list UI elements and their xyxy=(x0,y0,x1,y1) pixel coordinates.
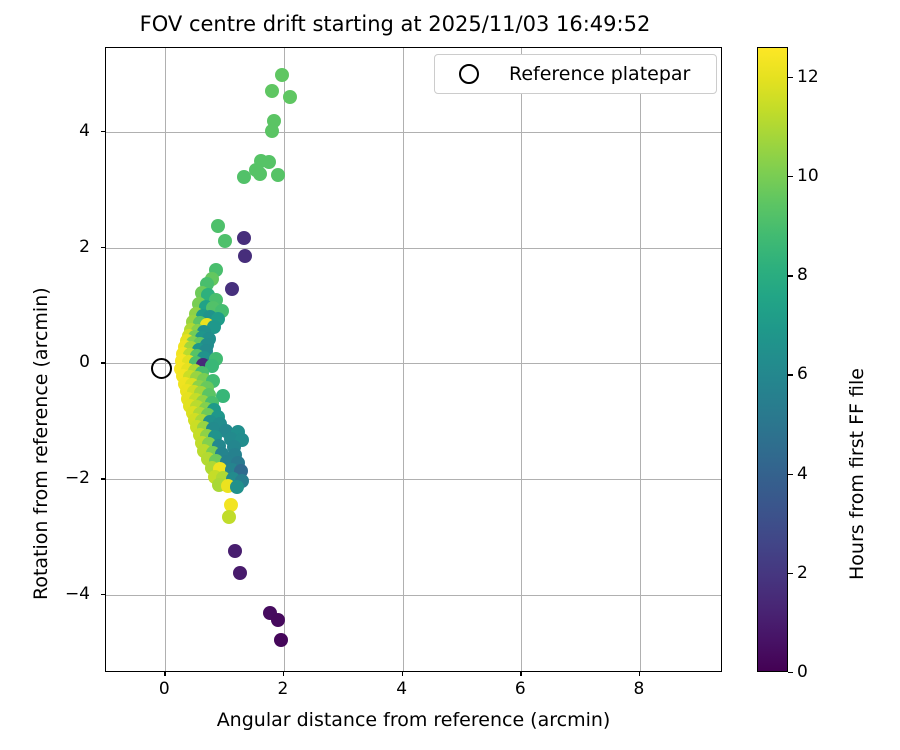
x-tick-mark xyxy=(402,672,403,676)
scatter-point xyxy=(238,249,252,263)
scatter-point xyxy=(271,168,285,182)
x-tick-label: 0 xyxy=(159,679,170,699)
scatter-point xyxy=(230,480,244,494)
x-tick-label: 4 xyxy=(396,679,407,699)
gridline-vertical xyxy=(403,48,404,671)
y-tick-label: −4 xyxy=(65,584,90,604)
gridline-horizontal xyxy=(106,479,721,480)
scatter-point xyxy=(211,219,225,233)
y-tick-mark xyxy=(101,594,105,595)
x-axis-label: Angular distance from reference (arcmin) xyxy=(105,709,722,731)
plot-axes[interactable] xyxy=(105,47,722,672)
colorbar-tick-label: 8 xyxy=(797,265,808,285)
colorbar-tick-mark xyxy=(788,275,793,276)
y-tick-mark xyxy=(101,478,105,479)
gridline-horizontal xyxy=(106,132,721,133)
scatter-point xyxy=(275,68,289,82)
y-tick-mark xyxy=(101,247,105,248)
gridline-vertical xyxy=(640,48,641,671)
x-tick-mark xyxy=(283,672,284,676)
y-axis-label: Rotation from reference (arcmin) xyxy=(30,287,52,600)
scatter-point xyxy=(265,124,279,138)
scatter-point xyxy=(271,613,285,627)
scatter-point xyxy=(253,167,267,181)
y-tick-mark xyxy=(101,131,105,132)
scatter-point xyxy=(265,84,279,98)
scatter-point xyxy=(237,170,251,184)
x-tick-label: 6 xyxy=(515,679,526,699)
scatter-point xyxy=(262,155,276,169)
scatter-point xyxy=(283,90,297,104)
legend-reference-platepar-icon xyxy=(459,64,479,84)
colorbar[interactable] xyxy=(757,47,788,672)
chart-title: FOV centre drift starting at 2025/11/03 … xyxy=(0,12,790,36)
figure-canvas: FOV centre drift starting at 2025/11/03 … xyxy=(0,0,900,750)
scatter-point xyxy=(233,566,247,580)
colorbar-tick-mark xyxy=(788,374,793,375)
colorbar-tick-mark xyxy=(788,176,793,177)
colorbar-tick-label: 0 xyxy=(797,662,808,682)
colorbar-tick-label: 2 xyxy=(797,563,808,583)
y-tick-label: 0 xyxy=(79,352,90,372)
gridline-horizontal xyxy=(106,248,721,249)
colorbar-tick-mark xyxy=(788,672,793,673)
gridline-vertical xyxy=(521,48,522,671)
x-tick-mark xyxy=(164,672,165,676)
x-tick-label: 2 xyxy=(278,679,289,699)
x-tick-label: 8 xyxy=(634,679,645,699)
reference-platepar-marker xyxy=(151,358,172,379)
legend-box[interactable]: Reference platepar xyxy=(434,54,717,94)
scatter-point xyxy=(237,231,251,245)
colorbar-tick-label: 6 xyxy=(797,364,808,384)
colorbar-tick-label: 12 xyxy=(797,67,819,87)
scatter-point xyxy=(222,510,236,524)
colorbar-tick-mark xyxy=(788,573,793,574)
colorbar-tick-mark xyxy=(788,77,793,78)
colorbar-tick-label: 4 xyxy=(797,464,808,484)
gridline-horizontal xyxy=(106,595,721,596)
y-tick-label: 4 xyxy=(79,121,90,141)
colorbar-tick-label: 10 xyxy=(797,166,819,186)
scatter-point xyxy=(218,234,232,248)
y-tick-label: 2 xyxy=(79,237,90,257)
scatter-point xyxy=(274,633,288,647)
y-tick-mark xyxy=(101,362,105,363)
colorbar-label: Hours from first FF file xyxy=(846,368,868,580)
x-tick-mark xyxy=(639,672,640,676)
x-tick-mark xyxy=(520,672,521,676)
gridline-vertical xyxy=(284,48,285,671)
y-tick-label: −2 xyxy=(65,468,90,488)
colorbar-tick-mark xyxy=(788,474,793,475)
legend-reference-platepar-label: Reference platepar xyxy=(509,63,690,85)
scatter-point xyxy=(228,544,242,558)
scatter-point xyxy=(225,282,239,296)
